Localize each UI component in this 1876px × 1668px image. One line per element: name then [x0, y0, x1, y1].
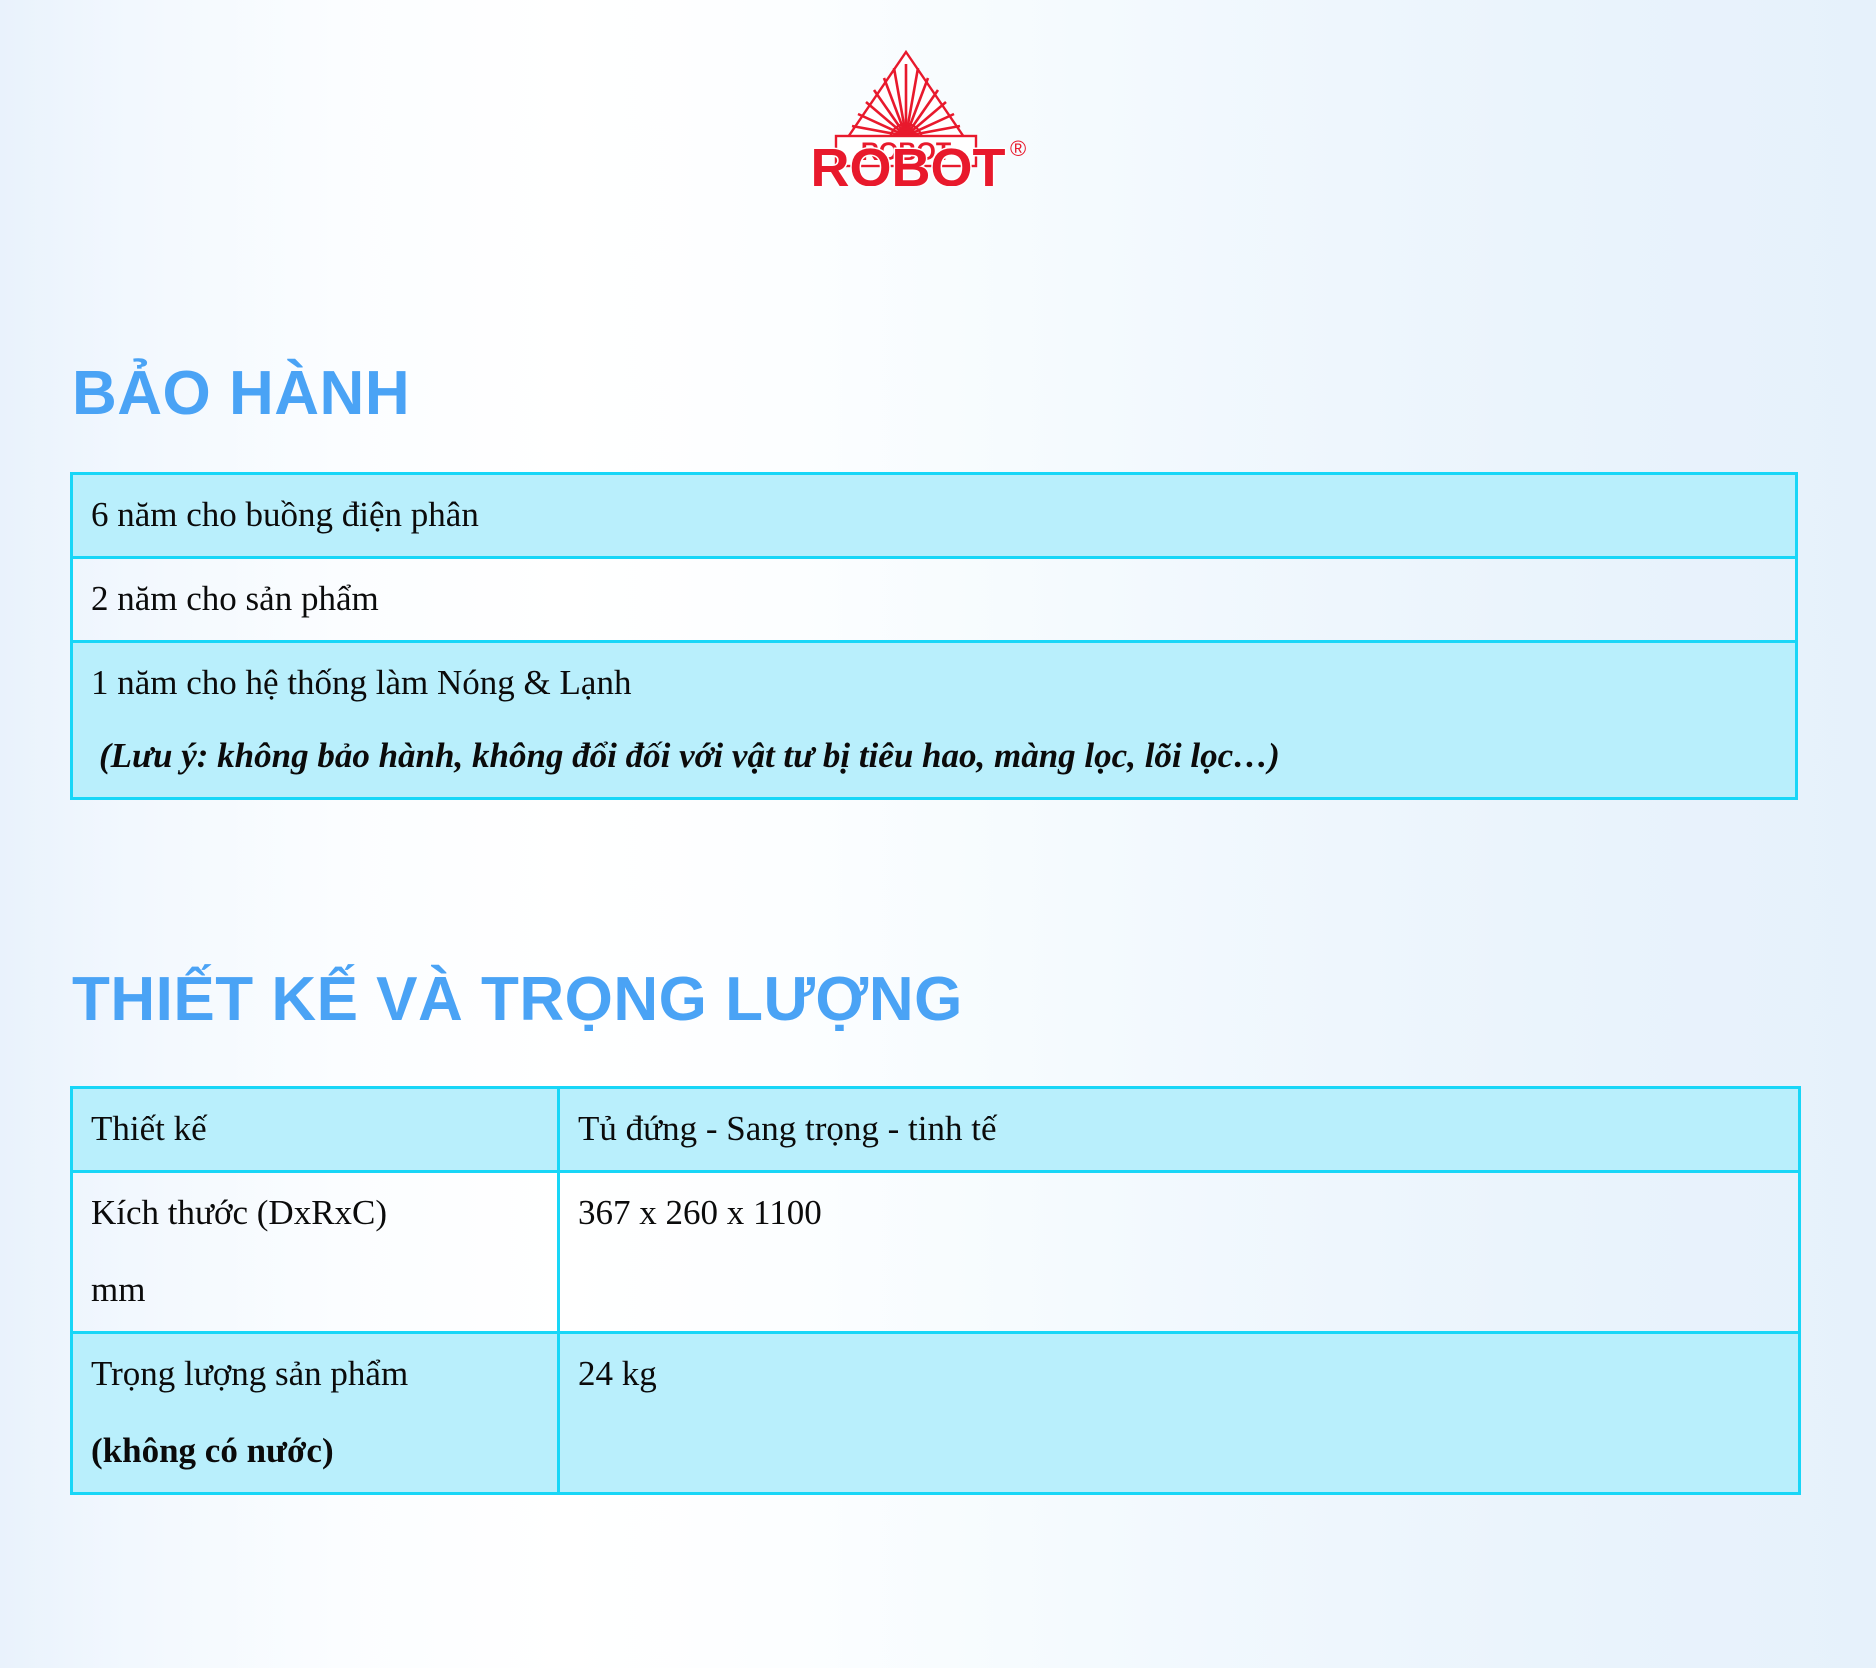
table-row: 6 năm cho buồng điện phân: [72, 474, 1797, 558]
design-label-dimensions: Kích thước (DxRxC) mm: [72, 1172, 559, 1333]
design-label-note-3: (không có nước): [91, 1425, 539, 1476]
logo-wordmark: ROBOT: [811, 138, 1006, 186]
design-value-style: Tủ đứng - Sang trọng - tinh tế: [559, 1088, 1800, 1172]
brand-logo: ROBOT ROBOT ®: [0, 44, 1876, 186]
design-table: Thiết kế Tủ đứng - Sang trọng - tinh tế …: [70, 1086, 1801, 1495]
design-label-weight: Trọng lượng sản phẩm (không có nước): [72, 1333, 559, 1494]
section-heading-design: THIẾT KẾ VÀ TRỌNG LƯỢNG: [72, 964, 963, 1035]
warranty-note: (Lưu ý: không bảo hành, không đổi đối vớ…: [91, 730, 1777, 781]
robot-logo-svg: ROBOT ROBOT ®: [778, 44, 1098, 186]
warranty-text-1: 6 năm cho buồng điện phân: [91, 489, 1777, 540]
design-label-unit-2: mm: [91, 1264, 539, 1315]
warranty-cell-product: 2 năm cho sản phẩm: [72, 558, 1797, 642]
registered-trademark-icon: ®: [1010, 136, 1026, 161]
warranty-text-2: 2 năm cho sản phẩm: [91, 573, 1777, 624]
table-row: Kích thước (DxRxC) mm 367 x 260 x 1100: [72, 1172, 1800, 1333]
warranty-cell-hotcold: 1 năm cho hệ thống làm Nóng & Lạnh (Lưu …: [72, 642, 1797, 799]
warranty-table: 6 năm cho buồng điện phân 2 năm cho sản …: [70, 472, 1798, 800]
design-label-style: Thiết kế: [72, 1088, 559, 1172]
section-heading-warranty: BẢO HÀNH: [72, 358, 410, 429]
table-row: 1 năm cho hệ thống làm Nóng & Lạnh (Lưu …: [72, 642, 1797, 799]
robot-logo-graphic: ROBOT ROBOT ®: [778, 44, 1098, 186]
design-value-dimensions: 367 x 260 x 1100: [559, 1172, 1800, 1333]
design-label-text-2: Kích thước (DxRxC): [91, 1187, 539, 1238]
design-value-text-3: 24 kg: [578, 1348, 1780, 1399]
design-label-text-1: Thiết kế: [91, 1103, 539, 1154]
table-row: 2 năm cho sản phẩm: [72, 558, 1797, 642]
table-row: Trọng lượng sản phẩm (không có nước) 24 …: [72, 1333, 1800, 1494]
warranty-cell-electrolysis: 6 năm cho buồng điện phân: [72, 474, 1797, 558]
warranty-text-3: 1 năm cho hệ thống làm Nóng & Lạnh: [91, 657, 1777, 708]
table-row: Thiết kế Tủ đứng - Sang trọng - tinh tế: [72, 1088, 1800, 1172]
design-label-text-3: Trọng lượng sản phẩm: [91, 1348, 539, 1399]
design-value-text-2: 367 x 260 x 1100: [578, 1187, 1780, 1238]
design-value-text-1: Tủ đứng - Sang trọng - tinh tế: [578, 1103, 1780, 1154]
design-value-weight: 24 kg: [559, 1333, 1800, 1494]
